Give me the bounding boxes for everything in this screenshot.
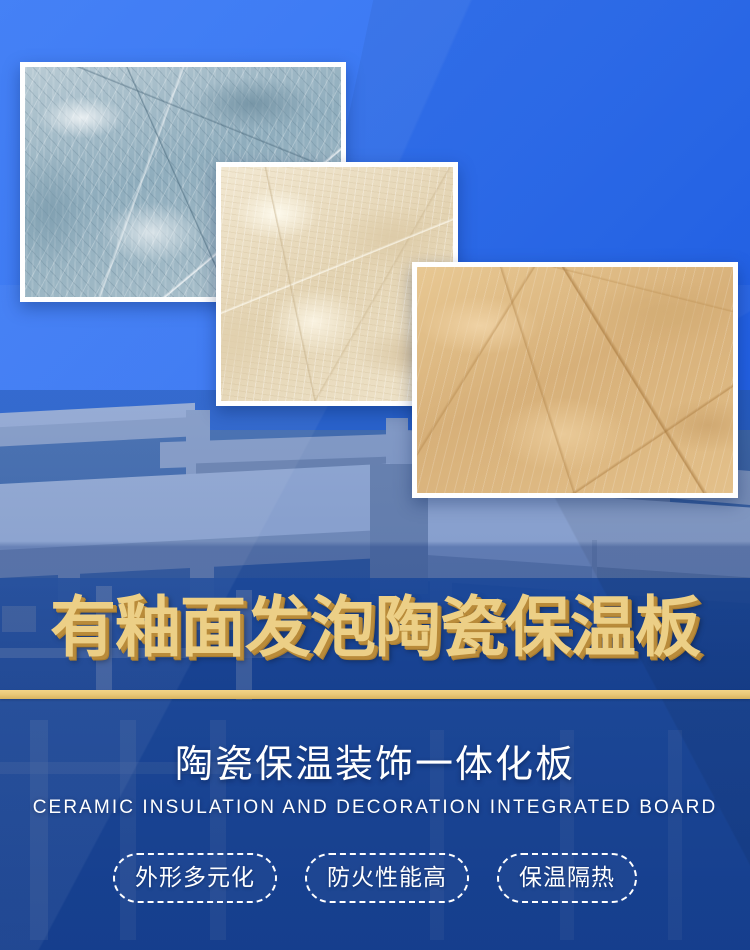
subtitle-chinese: 陶瓷保温装饰一体化板 [0,740,750,788]
tile-sample-golden-tan-marble [412,262,738,498]
feature-badge-thermal-insulation: 保温隔热 [497,853,637,903]
feature-badge-shape-variety: 外形多元化 [113,853,277,903]
main-title: 有釉面发泡陶瓷保温板 [0,586,750,670]
feature-badge-list: 外形多元化 防火性能高 保温隔热 [0,853,750,903]
feature-badge-fire-resistance: 防火性能高 [305,853,469,903]
gold-divider [0,690,750,699]
subtitle-english: CERAMIC INSULATION AND DECORATION INTEGR… [0,795,750,821]
tile-veins [417,267,733,493]
product-banner: 有釉面发泡陶瓷保温板 陶瓷保温装饰一体化板 CERAMIC INSULATION… [0,0,750,950]
